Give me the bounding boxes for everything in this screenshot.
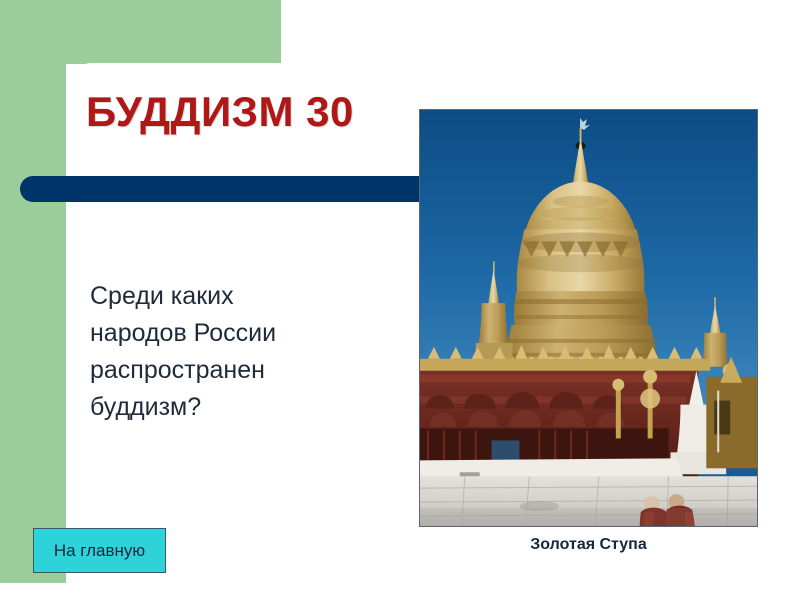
slide-canvas: БУДДИЗМ 30 Среди каких народов России ра… xyxy=(0,0,800,600)
stupa-photo-graphic xyxy=(420,110,757,526)
watermark-text xyxy=(282,2,532,20)
green-left-strip xyxy=(0,63,66,584)
page-title: БУДДИЗМ 30 xyxy=(86,88,354,136)
bottom-white-strip xyxy=(0,583,800,600)
image-caption: Золотая Ступа xyxy=(419,536,758,554)
home-button-label: На главную xyxy=(54,541,145,561)
green-top-block xyxy=(0,0,281,64)
home-button[interactable]: На главную xyxy=(33,528,166,573)
question-text: Среди каких народов России распространен… xyxy=(90,278,400,426)
stupa-photo xyxy=(419,109,758,527)
accent-bar xyxy=(20,176,420,202)
